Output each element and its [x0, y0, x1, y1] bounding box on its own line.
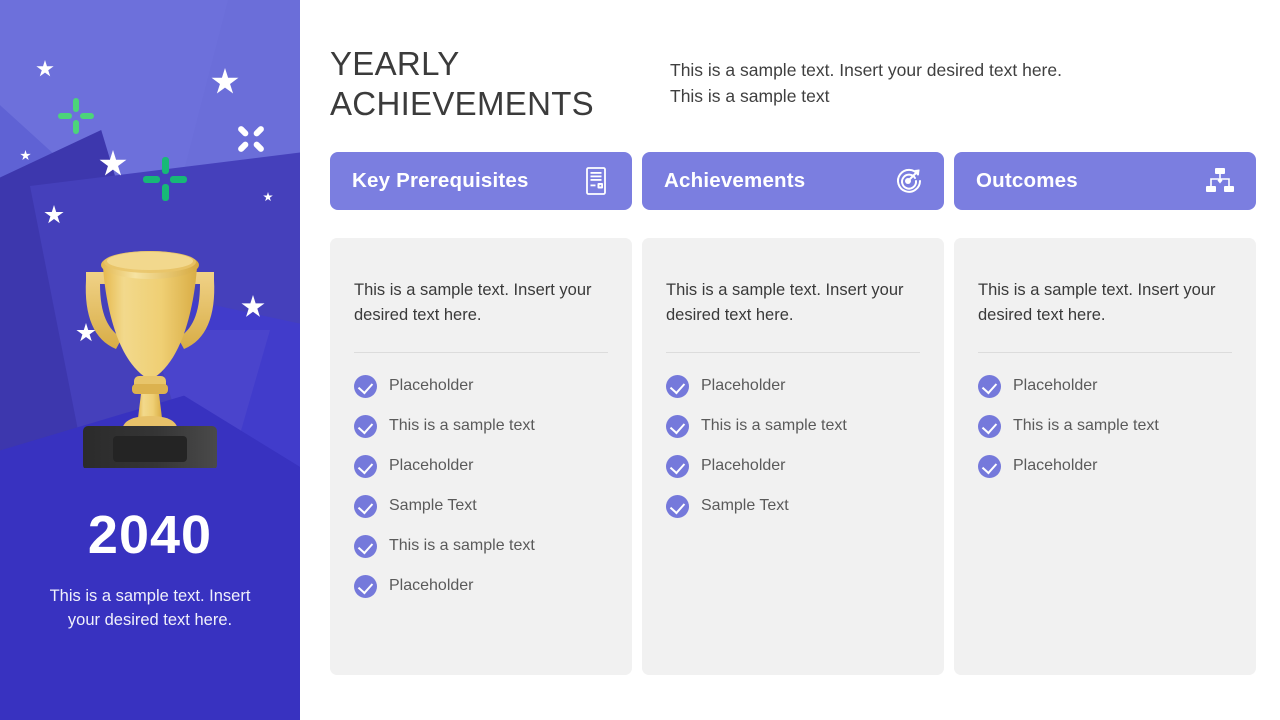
list-item[interactable]: This is a sample text	[354, 535, 608, 558]
star-icon	[20, 150, 31, 161]
page-subtitle: This is a sample text. Insert your desir…	[670, 57, 1070, 110]
list-item-label: Placeholder	[389, 456, 474, 477]
tab-label: Outcomes	[976, 169, 1078, 193]
check-circle-icon	[354, 375, 377, 398]
card-divider	[666, 352, 920, 353]
card-lead-text: This is a sample text. Insert your desir…	[666, 278, 920, 328]
check-circle-icon	[978, 455, 1001, 478]
check-circle-icon	[666, 495, 689, 518]
list-item-label: Placeholder	[389, 576, 474, 597]
list-item-label: This is a sample text	[1013, 416, 1159, 437]
page-title-line-1: YEARLY	[330, 44, 650, 84]
left-hero-panel: 2040 This is a sample text. Insert your …	[0, 0, 300, 720]
slide-canvas: 2040 This is a sample text. Insert your …	[0, 0, 1280, 720]
check-circle-icon	[354, 495, 377, 518]
list-item[interactable]: Placeholder	[354, 375, 608, 398]
card-divider	[354, 352, 608, 353]
check-circle-icon	[666, 375, 689, 398]
org-chart-icon	[1204, 165, 1236, 197]
list-item[interactable]: Placeholder	[978, 455, 1232, 478]
check-circle-icon	[666, 415, 689, 438]
list-item[interactable]: This is a sample text	[354, 415, 608, 438]
list-item-label: This is a sample text	[389, 416, 535, 437]
card-achievements: This is a sample text. Insert your desir…	[642, 238, 944, 675]
tab-bar: Key Prerequisites Achievements	[330, 152, 1256, 210]
card-lead-text: This is a sample text. Insert your desir…	[978, 278, 1232, 328]
main-content: YEARLY ACHIEVEMENTS This is a sample tex…	[300, 0, 1280, 720]
list-item[interactable]: Placeholder	[666, 375, 920, 398]
card-row: This is a sample text. Insert your desir…	[330, 238, 1256, 675]
list-item[interactable]: Placeholder	[354, 575, 608, 598]
list-item-label: Sample Text	[701, 496, 789, 517]
list-item-label: Placeholder	[701, 456, 786, 477]
check-circle-icon	[354, 455, 377, 478]
list-item[interactable]: This is a sample text	[978, 415, 1232, 438]
list-item-label: This is a sample text	[389, 536, 535, 557]
sparkle-cross-icon	[143, 157, 187, 201]
page-title-line-2: ACHIEVEMENTS	[330, 84, 650, 124]
tab-key-prerequisites[interactable]: Key Prerequisites	[330, 152, 632, 210]
sparkle-cross-icon	[58, 98, 94, 134]
card-divider	[978, 352, 1232, 353]
trophy-icon	[50, 218, 250, 468]
check-circle-icon	[666, 455, 689, 478]
card-lead-text: This is a sample text. Insert your desir…	[354, 278, 608, 328]
left-panel-caption: This is a sample text. Insert your desir…	[40, 585, 260, 633]
list-item-label: Sample Text	[389, 496, 477, 517]
check-circle-icon	[354, 415, 377, 438]
card-key-prerequisites: This is a sample text. Insert your desir…	[330, 238, 632, 675]
list-item-label: This is a sample text	[701, 416, 847, 437]
bullet-list: Placeholder This is a sample text Placeh…	[354, 375, 608, 598]
card-outcomes: This is a sample text. Insert your desir…	[954, 238, 1256, 675]
bullet-list: Placeholder This is a sample text Placeh…	[978, 375, 1232, 478]
list-item[interactable]: Sample Text	[666, 495, 920, 518]
bullet-list: Placeholder This is a sample text Placeh…	[666, 375, 920, 518]
tab-label: Achievements	[664, 169, 805, 193]
list-item[interactable]: Placeholder	[978, 375, 1232, 398]
list-item-label: Placeholder	[1013, 456, 1098, 477]
tab-outcomes[interactable]: Outcomes	[954, 152, 1256, 210]
list-item-label: Placeholder	[701, 376, 786, 397]
list-item[interactable]: This is a sample text	[666, 415, 920, 438]
list-item[interactable]: Placeholder	[666, 455, 920, 478]
check-circle-icon	[978, 415, 1001, 438]
check-circle-icon	[978, 375, 1001, 398]
list-item[interactable]: Placeholder	[354, 455, 608, 478]
target-arrow-icon	[892, 165, 924, 197]
tab-label: Key Prerequisites	[352, 169, 529, 193]
check-circle-icon	[354, 535, 377, 558]
list-item-label: Placeholder	[1013, 376, 1098, 397]
year-label: 2040	[0, 508, 300, 562]
list-item-label: Placeholder	[389, 376, 474, 397]
check-circle-icon	[354, 575, 377, 598]
page-title: YEARLY ACHIEVEMENTS	[330, 44, 650, 125]
tab-achievements[interactable]: Achievements	[642, 152, 944, 210]
list-item[interactable]: Sample Text	[354, 495, 608, 518]
document-list-icon	[580, 165, 612, 197]
